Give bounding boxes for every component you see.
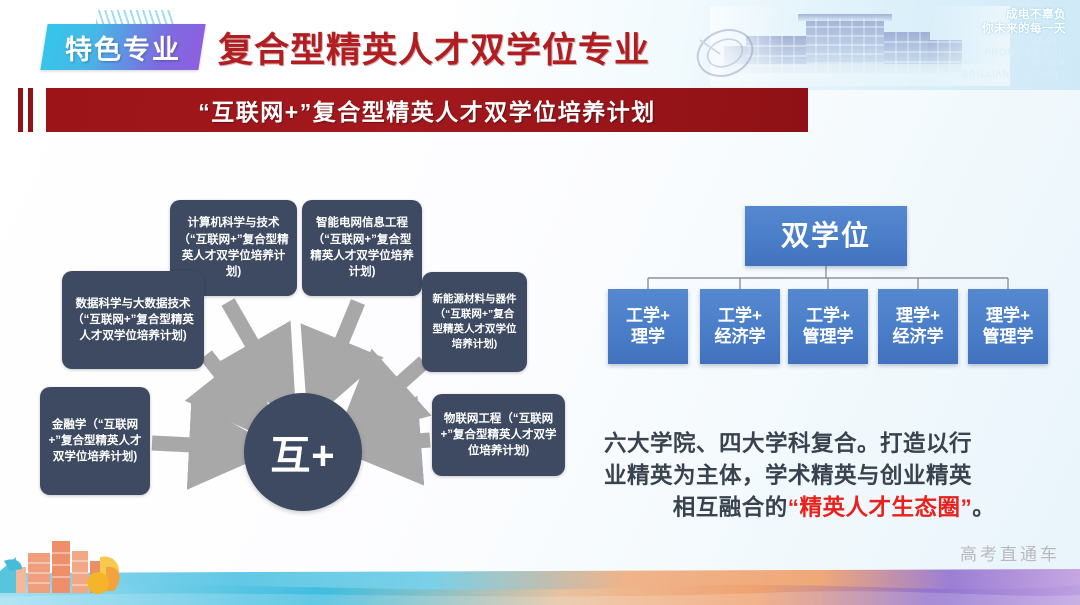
program-node-new-energy[interactable]: 新能源材料与器件（“互联网+”复合型精英人才双学位培养计划) [422,272,527,372]
program-node-iot[interactable]: 物联网工程（“互联网+”复合型精英人才双学位培养计划) [432,394,565,476]
feature-badge-label: 特色专业 [44,24,202,70]
org-leaf-1-line1: 工学+ [715,306,766,327]
org-leaf-1[interactable]: 工学+ 经济学 [700,289,780,364]
swirl-ring-icon [690,24,760,82]
org-root-box[interactable]: 双学位 [745,206,907,266]
caption-highlight: “精英人才生态圈” [788,495,973,520]
degree-org-chart: 双学位 工学+ 理学 工学+ 经济学 工学+ 管理学 理学+ 经济学 [600,200,1080,370]
org-leaf-2-line1: 工学+ [803,306,854,327]
banner-tick-1 [18,88,23,132]
slogan-en-line1: UESTC [962,36,1066,47]
org-leaf-4-line2: 管理学 [983,327,1034,348]
caption-line-1: 六大学院、四大学科复合。打造以行 [604,428,1064,460]
org-leaf-4[interactable]: 理学+ 管理学 [968,289,1048,364]
slogan-cn-line2: 你未来的每一天 [962,22,1066,36]
program-node-finance[interactable]: 金融学（“互联网+”复合型精英人才双学位培养计划) [40,387,150,495]
diagram-hub: 互+ [244,393,362,511]
red-banner-title: “互联网+”复合型精英人才双学位培养计划 [46,88,808,132]
caption-line-3: 相互融合的“精英人才生态圈”。 [604,492,1064,524]
page-title: 复合型精英人才双学位专业 [218,22,650,73]
city-skyline-icon [0,527,170,599]
slogan-cn-line1: 成电不辜负 [962,8,1066,22]
red-banner: “互联网+”复合型精英人才双学位培养计划 [18,88,808,132]
slogan-en-line2: PROMISES YOU [962,47,1066,58]
banner-tick-2 [28,88,33,132]
summary-caption: 六大学院、四大学科复合。打造以行 业精英为主体，学术精英与创业精英 相互融合的“… [604,428,1064,524]
slogan-en-line4: BRILLIANT FUTURE! [962,69,1066,80]
org-leaf-3-line2: 经济学 [893,327,944,348]
org-leaf-1-line2: 经济学 [715,327,766,348]
program-node-data-science[interactable]: 数据科学与大数据技术（“互联网+”复合型精英人才双学位培养计划) [62,271,204,369]
caption-line-3-prefix: 相互融合的 [673,495,788,520]
programs-diagram: 计算机科学与技术（“互联网+”复合型精英人才双学位培养计划) 智能电网信息工程（… [0,150,600,530]
caption-line-2: 业精英为主体，学术精英与创业精英 [604,460,1064,492]
org-leaf-2-line2: 管理学 [803,327,854,348]
watermark-label: 高考直通车 [960,540,1060,565]
program-node-smart-grid[interactable]: 智能电网信息工程（“互联网+”复合型精英人才双学位培养计划) [302,200,422,296]
caption-line-3-suffix: 。 [972,495,995,520]
hatch-decoration [96,10,174,24]
org-leaf-0-line1: 工学+ [626,306,670,327]
org-leaf-3[interactable]: 理学+ 经济学 [878,289,958,364]
slogan-block: 成电不辜负 你未来的每一天 UESTC PROMISES YOU WITH A … [962,8,1066,80]
slide-header: 特色专业 复合型精英人才双学位专业 成电不辜负 你未来的每一天 UESTC PR… [0,0,1080,90]
org-leaf-0[interactable]: 工学+ 理学 [608,289,688,364]
org-leaf-4-line1: 理学+ [983,306,1034,327]
org-leaf-2[interactable]: 工学+ 管理学 [788,289,868,364]
org-leaf-3-line1: 理学+ [893,306,944,327]
slide-canvas: 特色专业 复合型精英人才双学位专业 成电不辜负 你未来的每一天 UESTC PR… [0,0,1080,605]
org-leaf-0-line2: 理学 [626,327,670,348]
slogan-en-line3: WITH A [962,58,1066,69]
